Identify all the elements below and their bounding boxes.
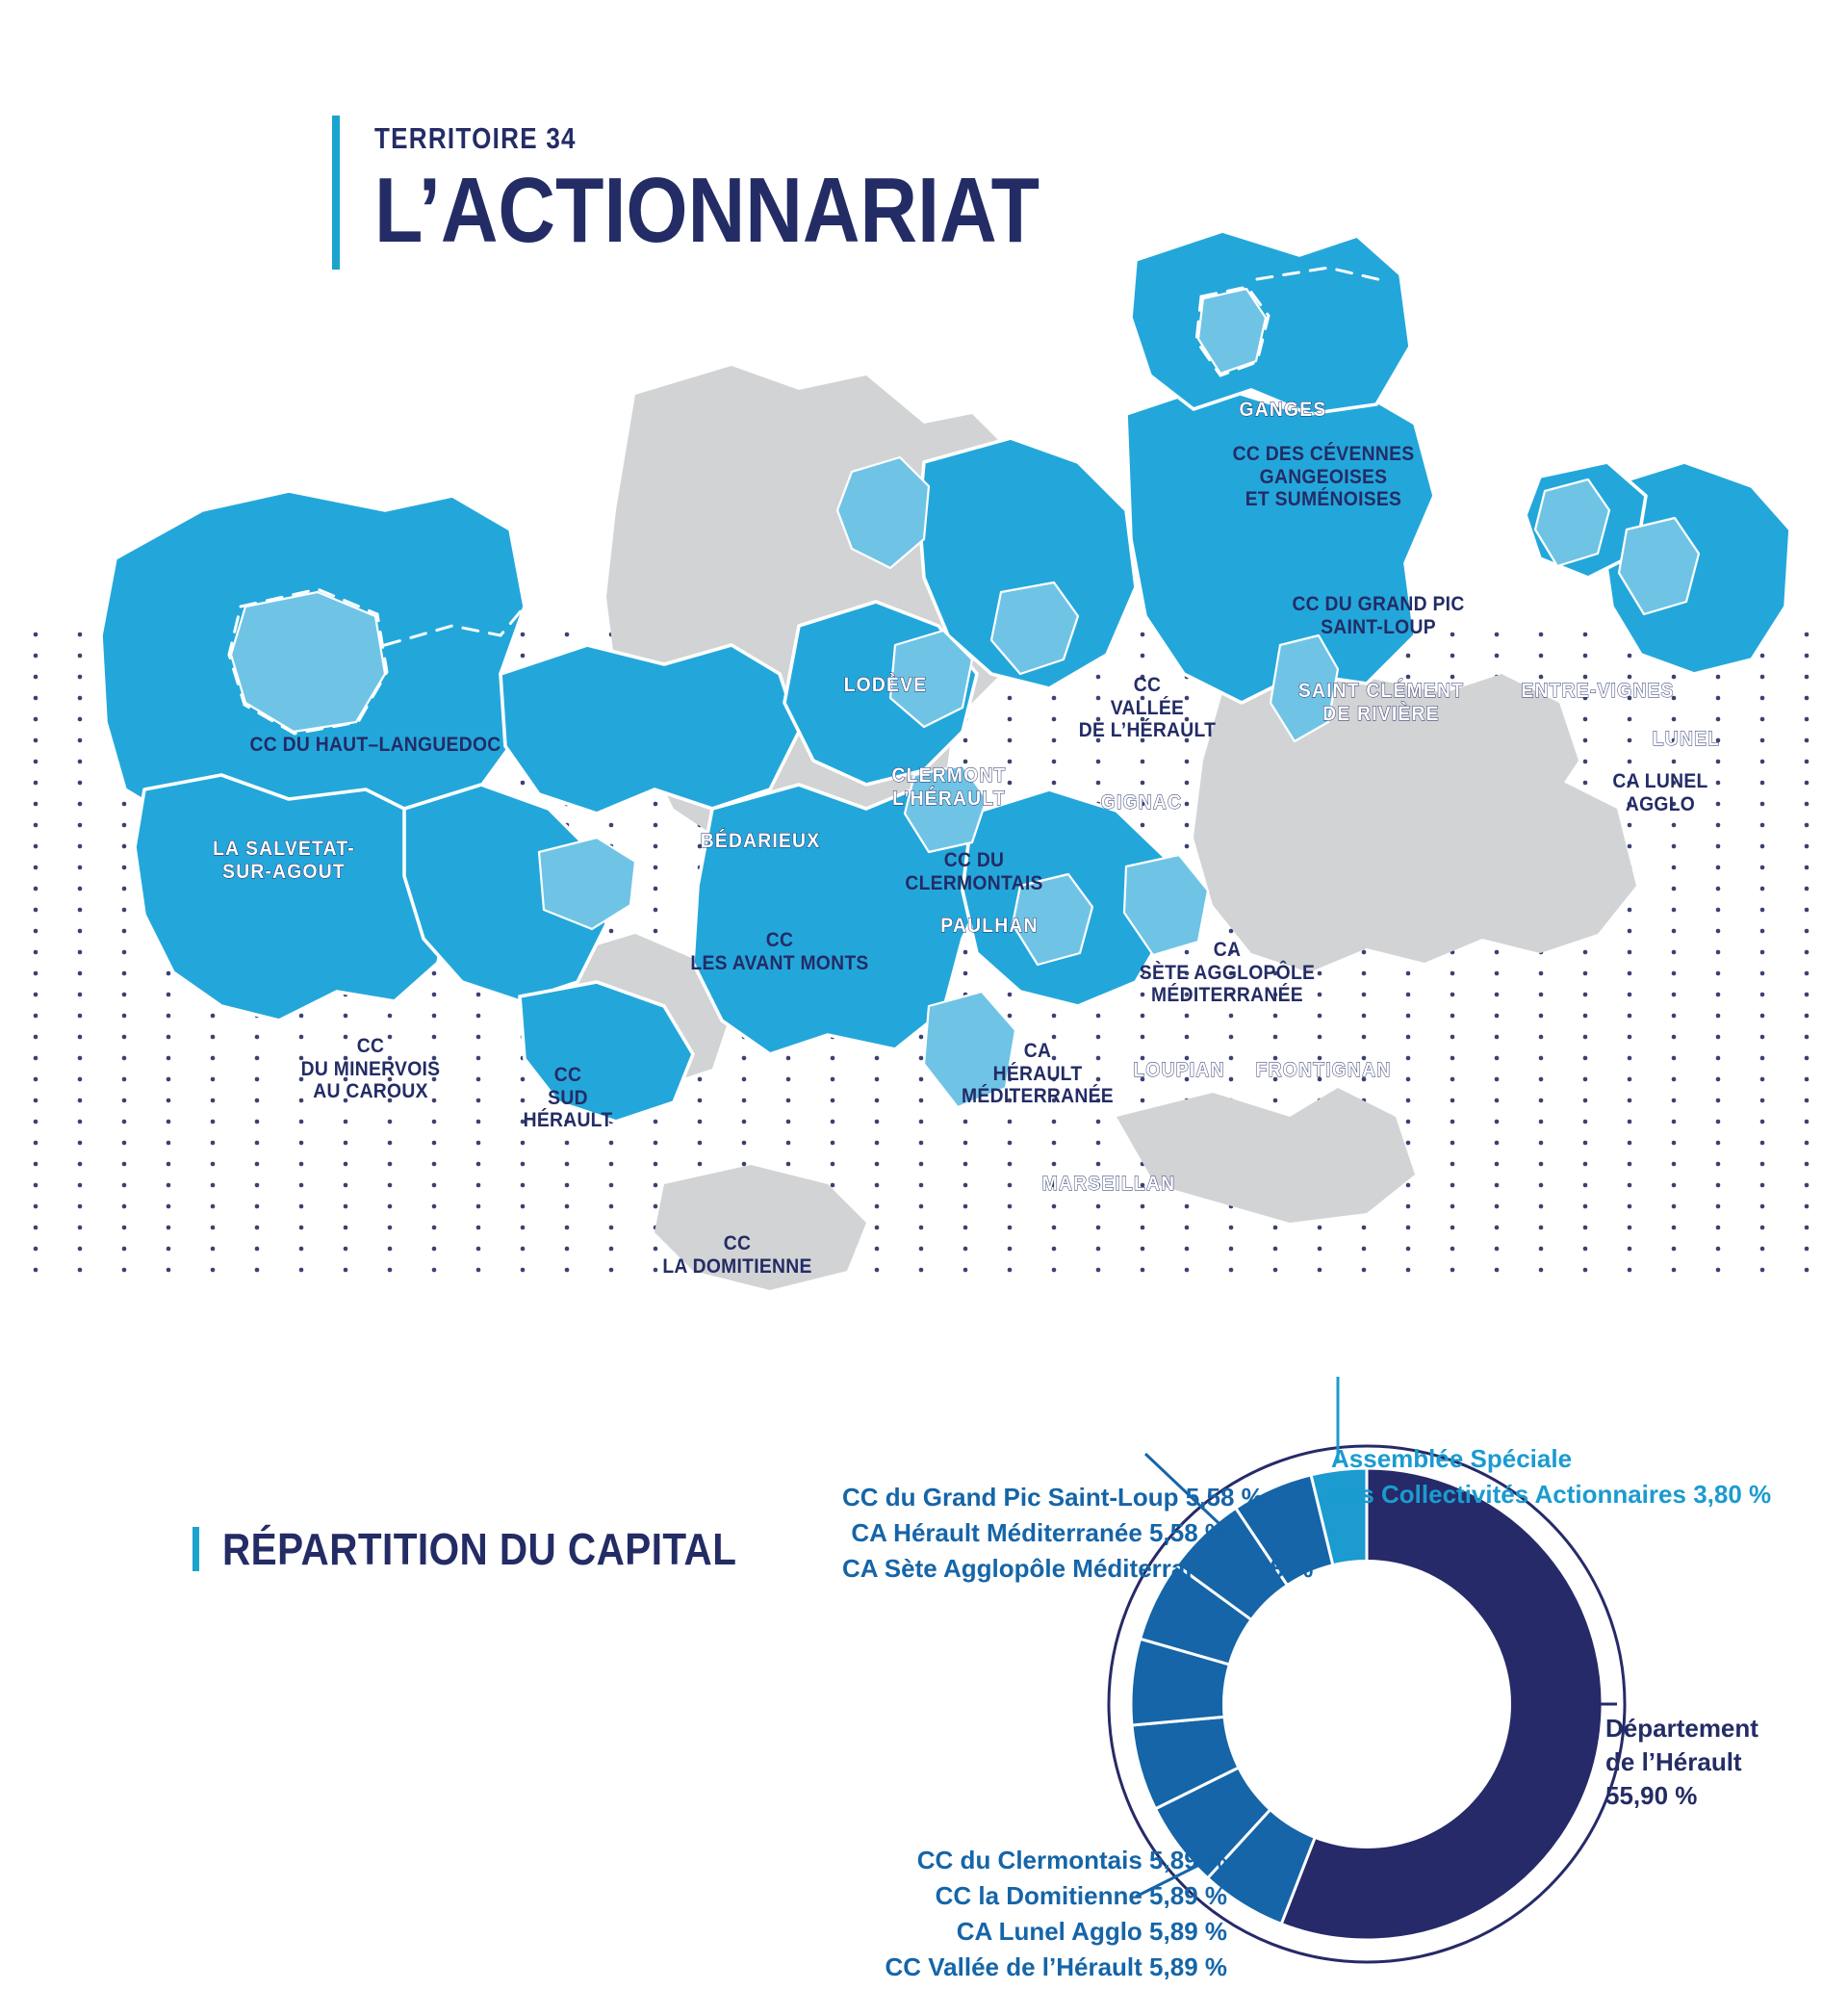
callout-departement-de-l-herault: Département de l’Hérault 55,90 % [1605, 1712, 1827, 1812]
header-eyebrow: TERRITOIRE 34 [374, 121, 1024, 156]
callout-row: CA Lunel Agglo 5,89 % [823, 1914, 1227, 1950]
callout-top-left: CC du Grand Pic Saint-Loup 5,58 % CA Hér… [842, 1480, 1227, 1587]
callout-row: CA Sète Agglopôle Méditerranée 5,58 % [842, 1551, 1227, 1587]
callout-row: CC du Clermontais 5,89 % [823, 1843, 1227, 1878]
map-shapes [101, 231, 1790, 1290]
callout-row: des Collectivités Actionnaires 3,80 % [1331, 1477, 1784, 1512]
callout-row: CC la Domitienne 5,89 % [823, 1878, 1227, 1914]
callout-row: de l’Hérault [1605, 1745, 1827, 1779]
callout-bottom-left: CC du Clermontais 5,89 % CC la Domitienn… [823, 1843, 1227, 1985]
infographic-page: TERRITOIRE 34 L’ACTIONNARIAT [0, 0, 1848, 2016]
herault-map [0, 221, 1848, 1357]
callout-row: CC du Grand Pic Saint-Loup 5,58 % [842, 1480, 1227, 1515]
callout-row: Assemblée Spéciale [1331, 1441, 1784, 1477]
callout-row: Département [1605, 1712, 1827, 1745]
callout-row: 55,90 % [1605, 1779, 1827, 1813]
callout-assemblee-speciale: Assemblée Spéciale des Collectivités Act… [1331, 1441, 1784, 1512]
callout-row: CC Vallée de l’Hérault 5,89 % [823, 1950, 1227, 1985]
donut-hole [1222, 1560, 1511, 1848]
callout-row: CA Hérault Méditerranée 5,58 % [842, 1515, 1227, 1551]
